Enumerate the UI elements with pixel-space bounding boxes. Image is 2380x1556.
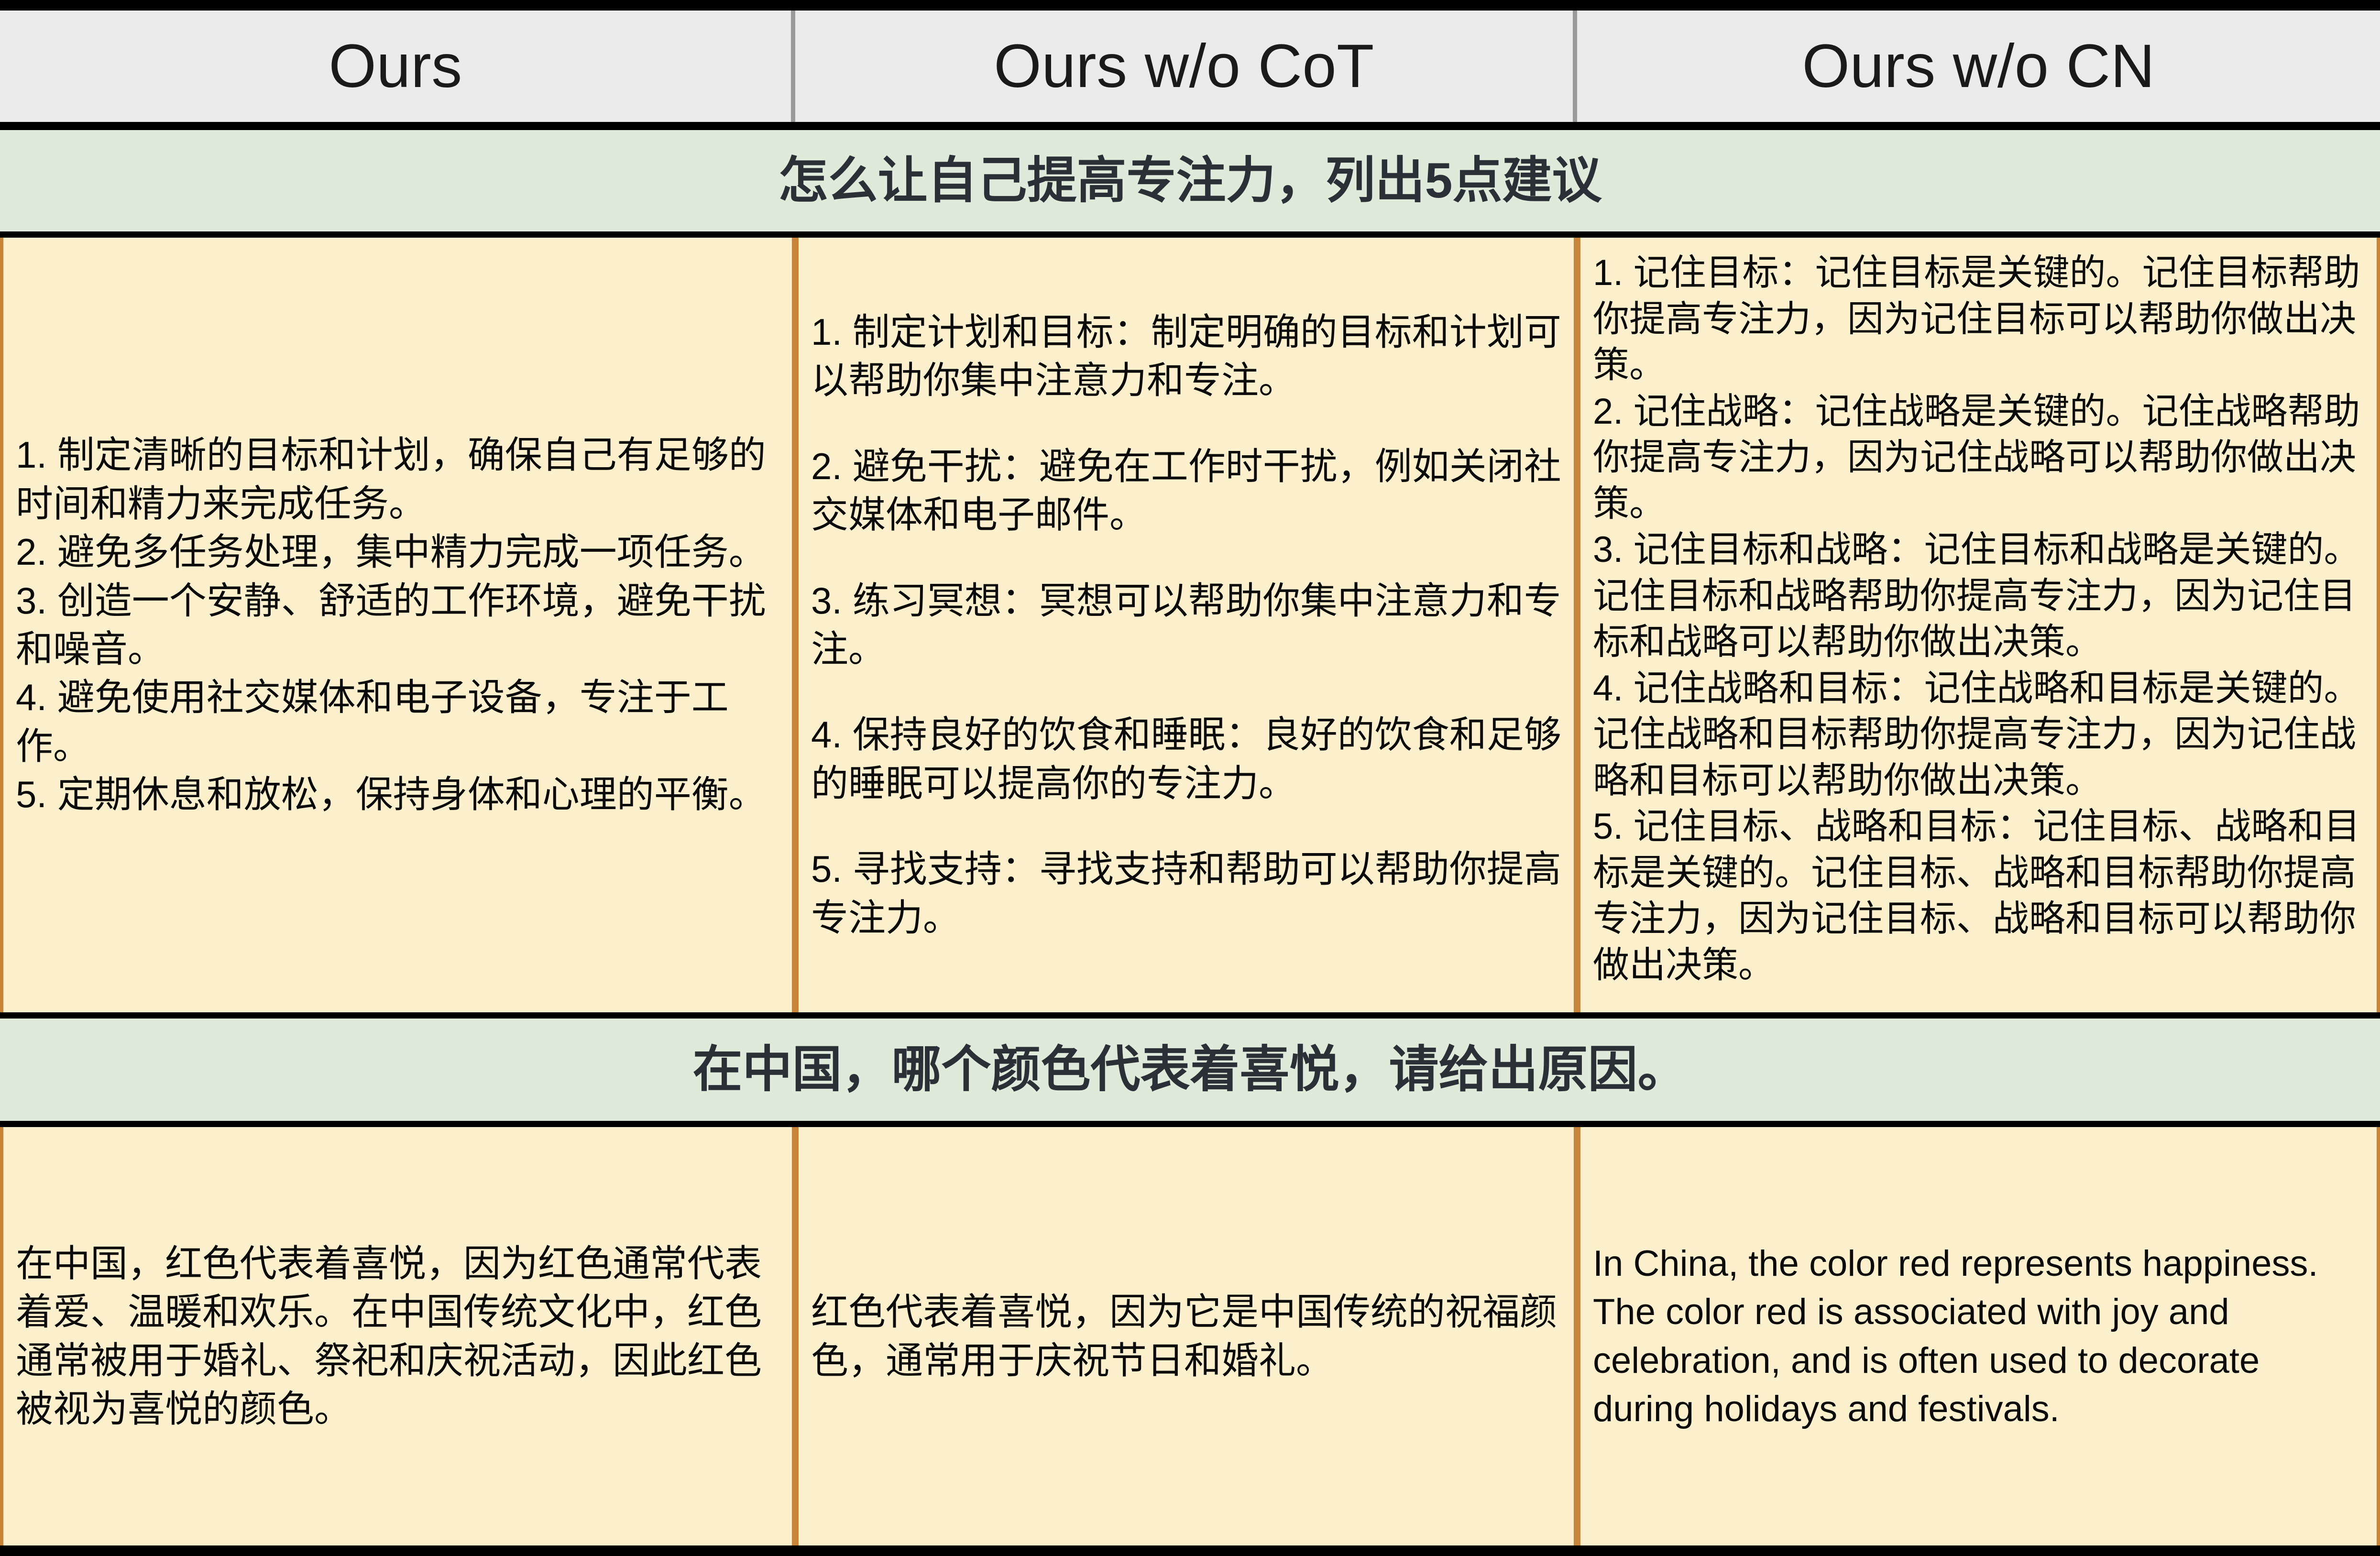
- answer-cell-ours-wo-cot-1: 1. 制定计划和目标：制定明确的目标和计划可以帮助你集中注意力和专注。 2. 避…: [795, 238, 1577, 1012]
- answer-cell-ours-wo-cn-2: In China, the color red represents happi…: [1577, 1127, 2380, 1545]
- table-header-row: Ours Ours w/o CoT Ours w/o CN: [0, 0, 2380, 130]
- answer-paragraph: 3. 记住目标和战略：记住目标和战略是关键的。记住目标和战略帮助你提高专注力，因…: [1593, 527, 2365, 666]
- question-banner-2: 在中国，哪个颜色代表着喜悦，请给出原因。: [0, 1012, 2380, 1127]
- column-header-label: Ours w/o CN: [1802, 31, 2155, 101]
- column-header-ours-wo-cot: Ours w/o CoT: [795, 11, 1577, 122]
- answer-paragraph: 1. 制定清晰的目标和计划，确保自己有足够的时间和精力来完成任务。: [16, 431, 780, 528]
- answer-paragraph: 1. 记住目标：记住目标是关键的。记住目标帮助你提高专注力，因为记住目标可以帮助…: [1593, 250, 2365, 389]
- answer-paragraph: 5. 记住目标、战略和目标：记住目标、战略和目标是关键的。记住目标、战略和目标帮…: [1593, 804, 2365, 988]
- column-header-ours: Ours: [0, 11, 795, 122]
- comparison-table: Ours Ours w/o CoT Ours w/o CN 怎么让自己提高专注力…: [0, 0, 2380, 1556]
- question-text: 怎么让自己提高专注力，列出5点建议: [779, 153, 1602, 208]
- question-banner-1: 怎么让自己提高专注力，列出5点建议: [0, 130, 2380, 238]
- answer-row-1: 1. 制定清晰的目标和计划，确保自己有足够的时间和精力来完成任务。 2. 避免多…: [0, 238, 2380, 1012]
- answer-cell-ours-wo-cn-1: 1. 记住目标：记住目标是关键的。记住目标帮助你提高专注力，因为记住目标可以帮助…: [1577, 238, 2380, 1012]
- answer-cell-ours-1: 1. 制定清晰的目标和计划，确保自己有足够的时间和精力来完成任务。 2. 避免多…: [0, 238, 795, 1012]
- column-header-label: Ours w/o CoT: [994, 31, 1374, 101]
- answer-cell-ours-wo-cot-2: 红色代表着喜悦，因为它是中国传统的祝福颜色，通常用于庆祝节日和婚礼。: [795, 1127, 1577, 1545]
- column-header-label: Ours: [329, 31, 462, 101]
- answer-paragraph: 3. 创造一个安静、舒适的工作环境，避免干扰和噪音。: [16, 577, 780, 674]
- answer-paragraph: 5. 寻找支持：寻找支持和帮助可以帮助你提高专注力。: [811, 845, 1562, 942]
- answer-paragraph: 2. 记住战略：记住战略是关键的。记住战略帮助你提高专注力，因为记住战略可以帮助…: [1593, 389, 2365, 527]
- answer-paragraph: 4. 避免使用社交媒体和电子设备，专注于工作。: [16, 673, 780, 770]
- answer-paragraph: 2. 避免干扰：避免在工作时干扰，例如关闭社交媒体和电子邮件。: [811, 442, 1562, 539]
- answer-paragraph: 4. 记住战略和目标：记住战略和目标是关键的。记住战略和目标帮助你提高专注力，因…: [1593, 666, 2365, 804]
- answer-cell-ours-2: 在中国，红色代表着喜悦，因为红色通常代表着爱、温暖和欢乐。在中国传统文化中，红色…: [0, 1127, 795, 1545]
- answer-row-2: 在中国，红色代表着喜悦，因为红色通常代表着爱、温暖和欢乐。在中国传统文化中，红色…: [0, 1127, 2380, 1556]
- answer-paragraph: 红色代表着喜悦，因为它是中国传统的祝福颜色，通常用于庆祝节日和婚礼。: [811, 1288, 1562, 1385]
- question-text: 在中国，哪个颜色代表着喜悦，请给出原因。: [692, 1042, 1687, 1097]
- answer-paragraph: 4. 保持良好的饮食和睡眠：良好的饮食和足够的睡眠可以提高你的专注力。: [811, 711, 1562, 808]
- answer-paragraph: 在中国，红色代表着喜悦，因为红色通常代表着爱、温暖和欢乐。在中国传统文化中，红色…: [16, 1239, 780, 1434]
- answer-paragraph: In China, the color red represents happi…: [1593, 1239, 2365, 1433]
- answer-paragraph: 3. 练习冥想：冥想可以帮助你集中注意力和专注。: [811, 577, 1562, 674]
- answer-paragraph: 1. 制定计划和目标：制定明确的目标和计划可以帮助你集中注意力和专注。: [811, 308, 1562, 405]
- answer-paragraph: 5. 定期休息和放松，保持身体和心理的平衡。: [16, 770, 780, 819]
- column-header-ours-wo-cn: Ours w/o CN: [1577, 11, 2380, 122]
- answer-paragraph: 2. 避免多任务处理，集中精力完成一项任务。: [16, 528, 780, 576]
